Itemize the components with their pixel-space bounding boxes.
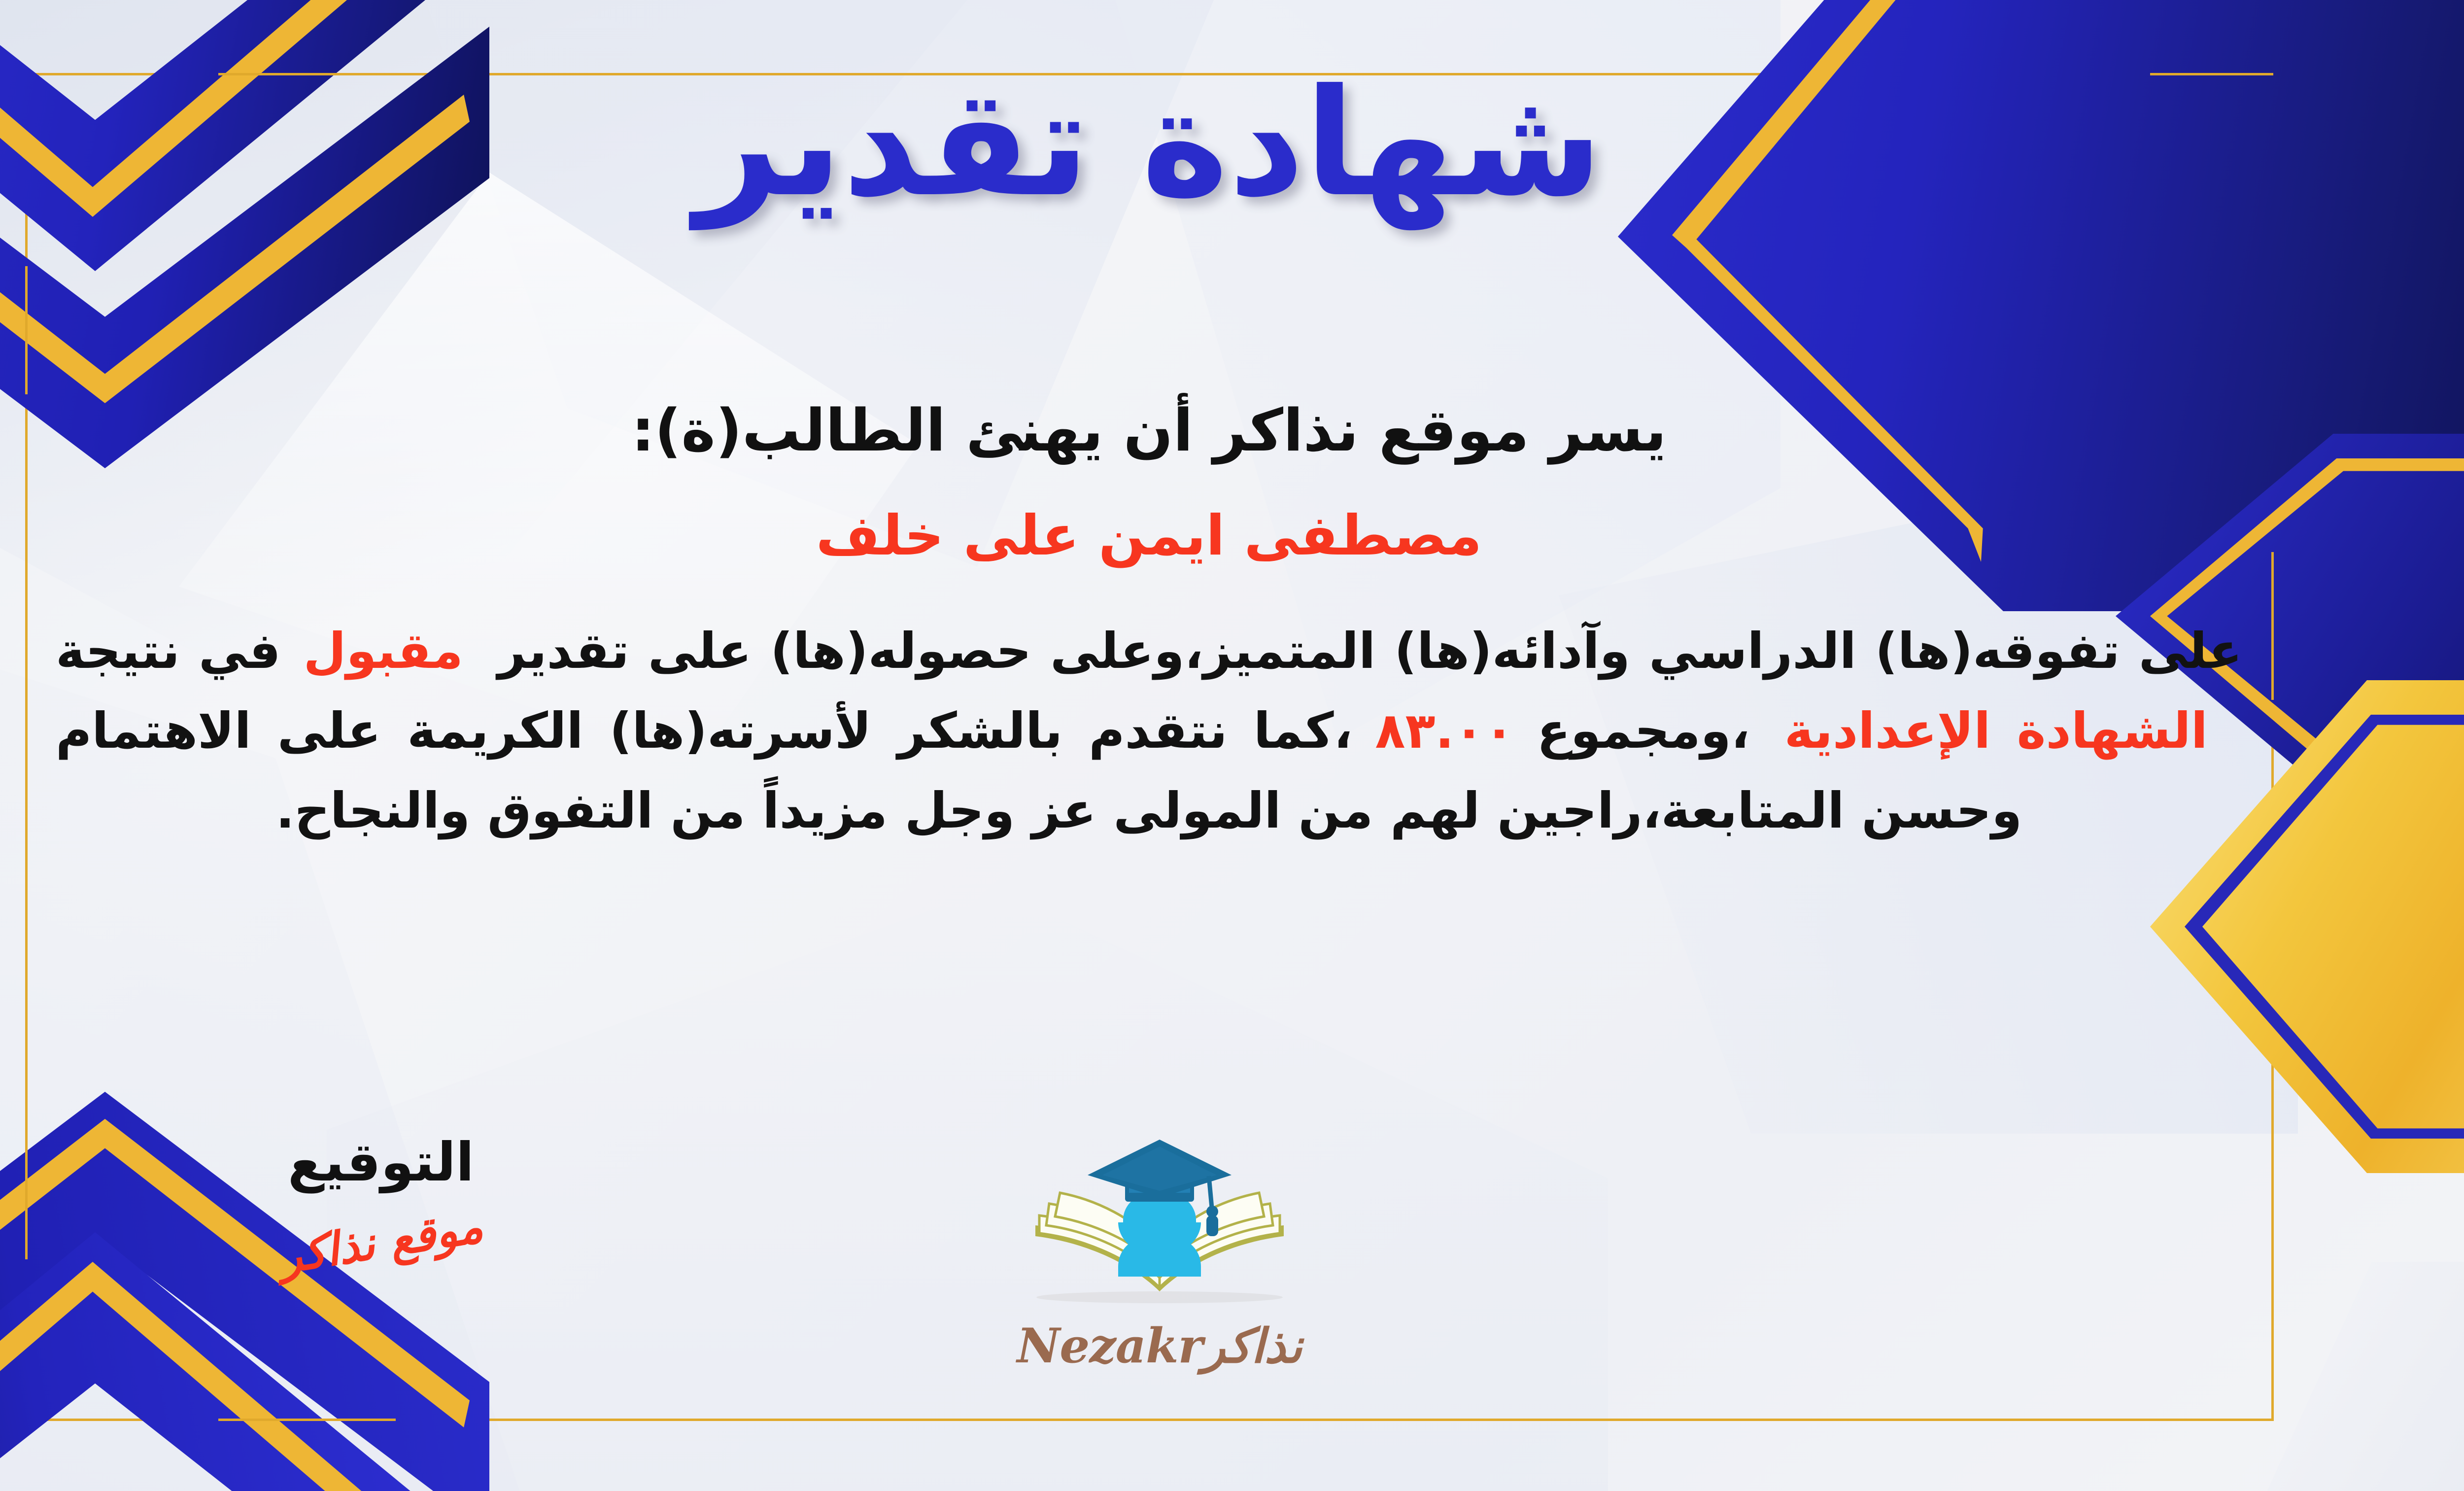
logo-wordmark: نذاكرNezakr [977, 1318, 1342, 1374]
signature-label: التوقيع [179, 1134, 583, 1192]
frame-line-bottom [26, 1419, 2273, 1421]
certificate-title: شهادة تقدير [0, 58, 2464, 228]
frame-line-right [2271, 73, 2274, 1421]
paragraph-segment-result: في نتيجة [56, 622, 281, 680]
student-figure-icon [1118, 1191, 1201, 1277]
grade-value: مقبول [304, 622, 463, 680]
intro-line: يسر موقع نذاكر أن يهنئ الطالب(ة): [41, 394, 2257, 467]
student-name: مصطفى ايمن على خلف [41, 503, 2257, 569]
paragraph-segment-total-label: ،ومجموع [1537, 702, 1750, 760]
certificate-paragraph: على تفوقه(ها) الدراسي وآدائه(ها) المتميز… [41, 611, 2257, 851]
logo-mark [977, 1129, 1342, 1316]
logo-illustration [977, 1129, 1342, 1316]
score-value: ٨٣.٠٠ [1375, 702, 1514, 760]
logo-wordmark-latin: Nezakr [1017, 1318, 1202, 1374]
frame-line-left [25, 73, 28, 1421]
site-logo: نذاكرNezakr [977, 1129, 1342, 1374]
signature-block: التوقيع موقع نذاكر [179, 1134, 583, 1268]
exam-name: الشهادة الإعدادية [1784, 702, 2208, 760]
logo-wordmark-arabic: نذاكر [1202, 1318, 1302, 1374]
certificate-body: يسر موقع نذاكر أن يهنئ الطالب(ة): مصطفى … [41, 394, 2257, 851]
certificate-canvas: شهادة تقدير يسر موقع نذاكر أن يهنئ الطال… [0, 0, 2464, 1491]
paragraph-segment-achievement: على تفوقه(ها) الدراسي وآدائه(ها) المتميز… [498, 622, 2242, 680]
